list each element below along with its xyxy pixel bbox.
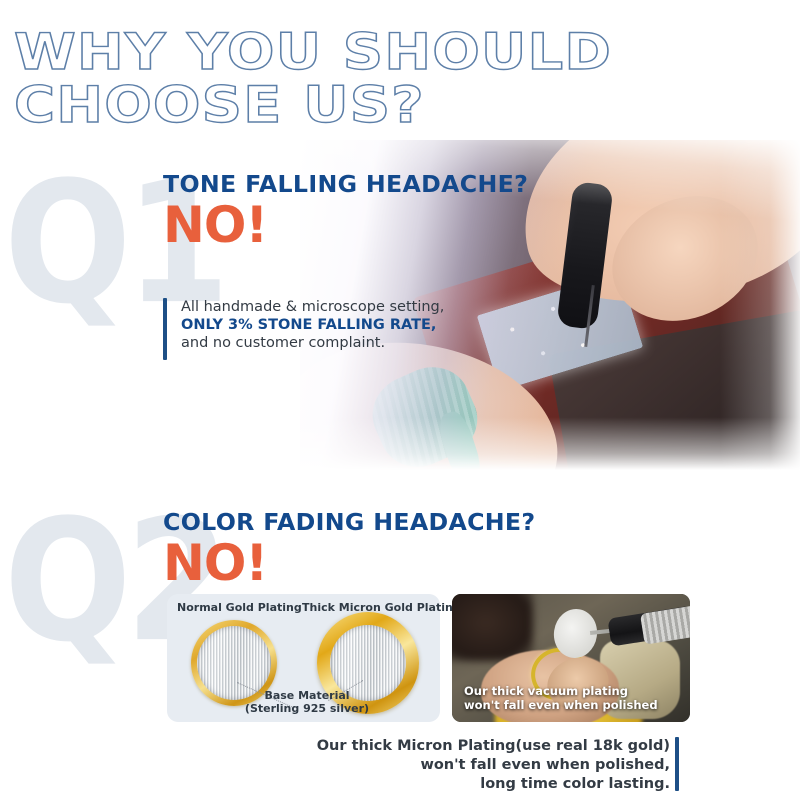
q2-answer: NO!	[163, 538, 267, 588]
photo-blur-left	[452, 594, 533, 661]
q1-quote-block: All handmade & microscope setting, ONLY …	[163, 298, 444, 360]
bottom-note-line-1: Our thick Micron Plating(use real 18k go…	[300, 737, 670, 756]
q1-quote-line-2: ONLY 3% STONE FALLING RATE,	[181, 316, 444, 334]
base-material-caption-line-1: Base Material	[207, 689, 407, 702]
headline-line-2: CHOOSE US?	[14, 83, 800, 127]
photo-caption-line-2: won't fall even when polished	[464, 698, 658, 712]
q1-quote-line-3: and no customer complaint.	[181, 334, 444, 352]
bottom-note-line-3: long time color lasting.	[300, 775, 670, 794]
base-material-caption-line-2: (Sterling 925 silver)	[207, 702, 407, 715]
plating-comparison-panel: Normal Gold Plating Thick Micron Gold Pl…	[167, 594, 440, 722]
q1-quote-text: All handmade & microscope setting, ONLY …	[181, 298, 444, 360]
label-normal-gold-plating: Normal Gold Plating	[177, 601, 297, 614]
photo-caption-line-1: Our thick vacuum plating	[464, 684, 658, 698]
q1-heading: TONE FALLING HEADACHE?	[163, 172, 528, 198]
headline-line-1: WHY YOU SHOULD	[14, 30, 800, 74]
base-material-caption: Base Material (Sterling 925 silver)	[207, 689, 407, 715]
quote-accent-bar	[163, 298, 167, 360]
bottom-note-line-2: won't fall even when polished,	[300, 756, 670, 775]
infographic-page: WHY YOU SHOULD CHOOSE US? Q1 TONE FALLIN…	[0, 0, 800, 800]
bottom-accent-bar	[675, 737, 679, 791]
q1-quote-line-1: All handmade & microscope setting,	[181, 298, 444, 316]
photo-ring-polishing: Our thick vacuum plating won't fall even…	[452, 594, 690, 722]
q2-heading: COLOR FADING HEADACHE?	[163, 510, 535, 536]
bottom-note: Our thick Micron Plating(use real 18k go…	[300, 737, 670, 794]
photo-caption: Our thick vacuum plating won't fall even…	[464, 684, 658, 712]
q1-answer: NO!	[163, 200, 267, 250]
page-title: WHY YOU SHOULD CHOOSE US?	[14, 30, 784, 127]
